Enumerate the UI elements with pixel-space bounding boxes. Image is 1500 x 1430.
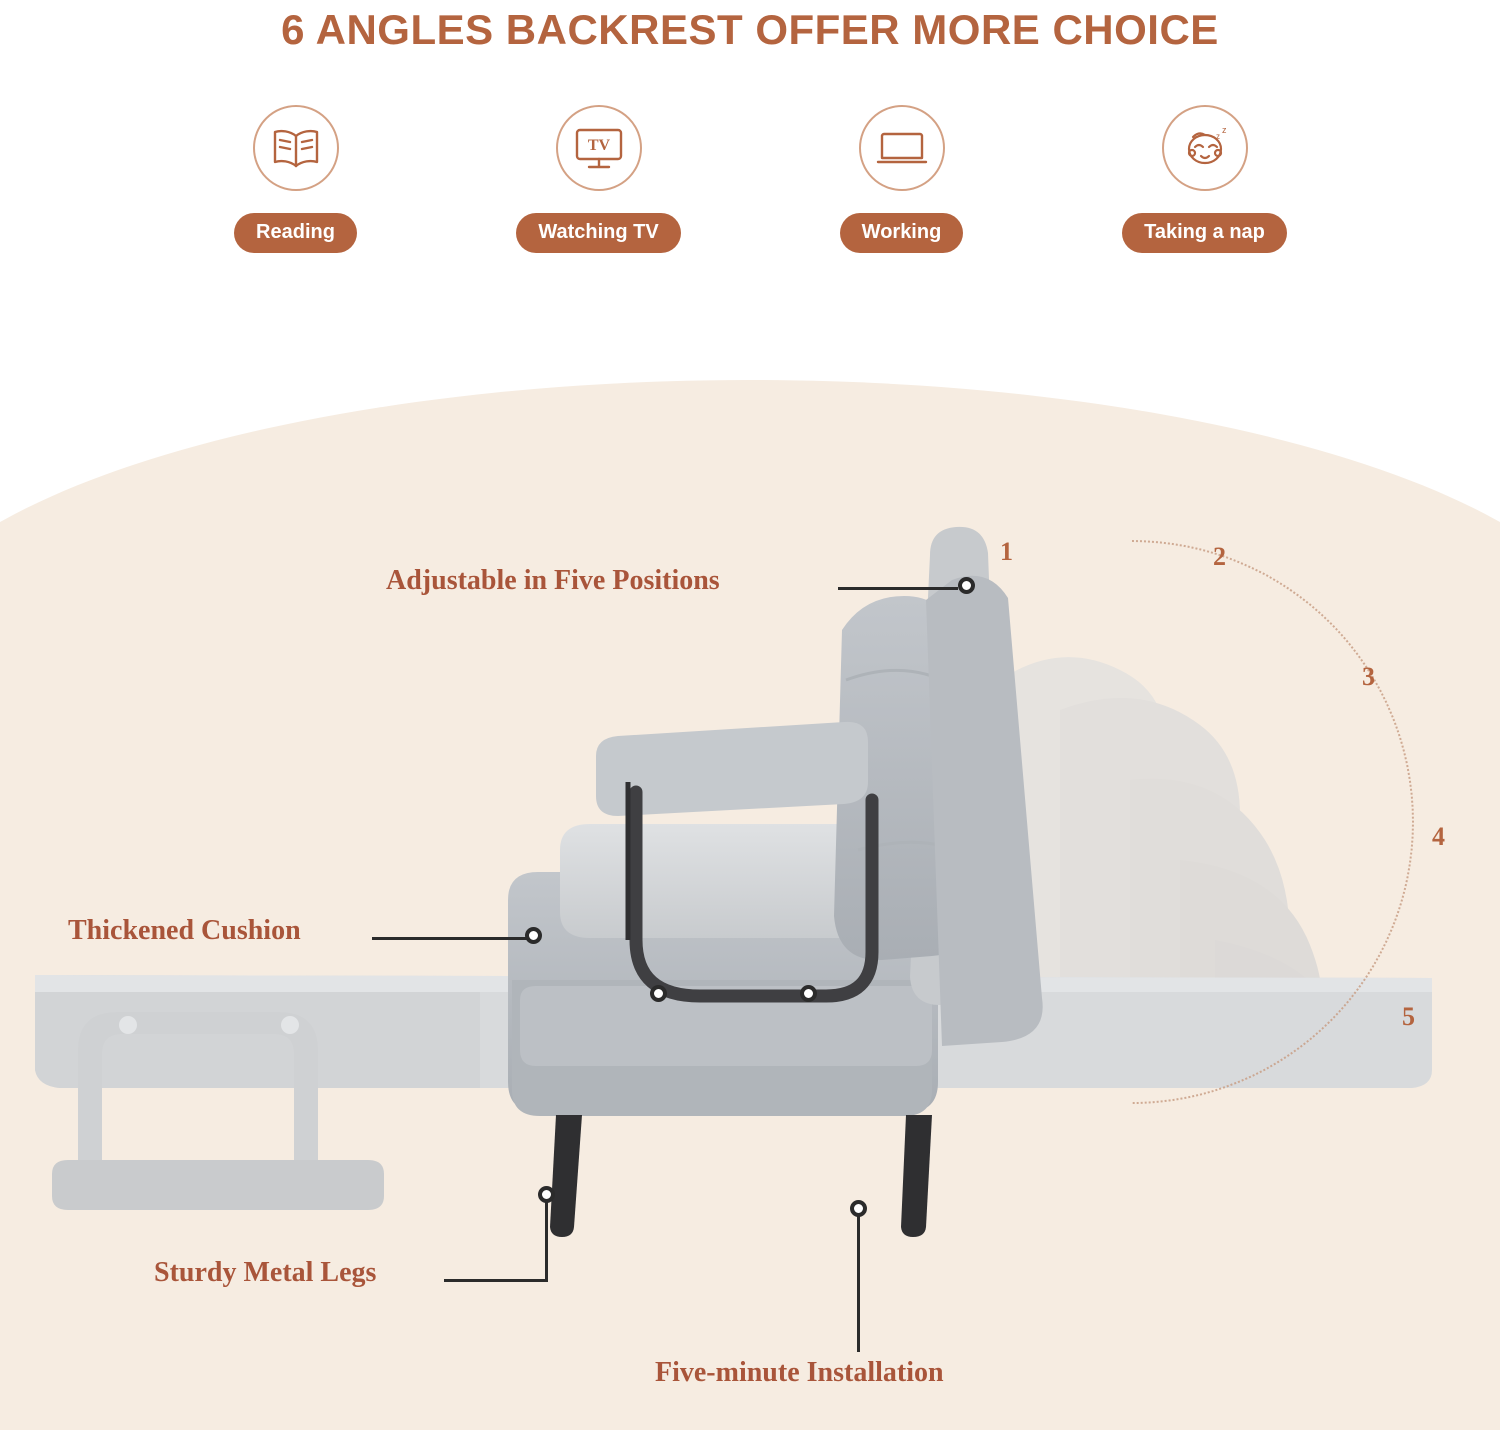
leader-line-legs-h [444, 1279, 548, 1282]
callout-label-sturdy-metal-legs: Sturdy Metal Legs [154, 1257, 376, 1289]
leader-line-install-v [857, 1210, 860, 1352]
feature-watching-tv: TV Watching TV [504, 105, 694, 253]
svg-text:z: z [1216, 132, 1220, 141]
svg-text:z: z [1222, 125, 1227, 135]
feature-label: Reading [234, 213, 357, 253]
position-number-1: 1 [1000, 537, 1013, 567]
frame-dot-right [800, 985, 817, 1002]
svg-text:TV: TV [587, 137, 610, 154]
tv-icon: TV [556, 105, 642, 191]
feature-row: Reading TV Watching TV Working [0, 105, 1500, 253]
position-number-3: 3 [1362, 662, 1375, 692]
callout-label-adjustable-positions: Adjustable in Five Positions [386, 565, 720, 597]
feature-label: Taking a nap [1122, 213, 1287, 253]
position-number-4: 4 [1432, 822, 1445, 852]
feature-label: Watching TV [516, 213, 680, 253]
feature-taking-a-nap: z z Taking a nap [1110, 105, 1300, 253]
callout-label-five-minute-installation: Five-minute Installation [655, 1357, 944, 1389]
page-title: 6 ANGLES BACKREST OFFER MORE CHOICE [0, 6, 1500, 54]
callout-dot-adjustable [958, 577, 975, 594]
feature-label: Working [840, 213, 964, 253]
leader-line-cushion [372, 937, 532, 940]
book-icon [253, 105, 339, 191]
position-number-5: 5 [1402, 1002, 1415, 1032]
leader-line-legs-v [545, 1195, 548, 1281]
callout-label-thickened-cushion: Thickened Cushion [68, 915, 301, 947]
laptop-icon [859, 105, 945, 191]
feature-working: Working [807, 105, 997, 253]
sleeping-baby-icon: z z [1162, 105, 1248, 191]
position-number-2: 2 [1213, 542, 1226, 572]
feature-reading: Reading [201, 105, 391, 253]
leader-line-adjustable [838, 587, 958, 590]
callout-dot-cushion [525, 927, 542, 944]
callout-dot-legs [538, 1186, 555, 1203]
product-diagram: 1 2 3 4 5 Adjustable in Five Positions T… [0, 380, 1500, 1430]
callout-dot-install [850, 1200, 867, 1217]
frame-dot-left [650, 985, 667, 1002]
